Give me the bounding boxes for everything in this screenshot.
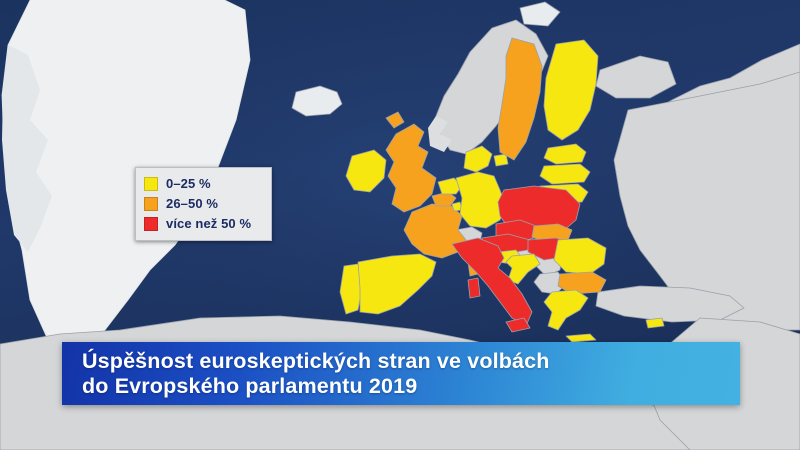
swatch-red-icon <box>144 217 158 231</box>
title-banner-text: Úspěšnost euroskeptických stran ve volbá… <box>82 349 730 399</box>
country-cyprus <box>646 318 664 328</box>
legend-label-26-50: 26–50 % <box>166 197 218 210</box>
title-line-2: do Evropského parlamentu 2019 <box>82 374 730 399</box>
country-sardinia <box>468 278 480 298</box>
legend-item-26-50: 26–50 % <box>144 194 263 213</box>
title-line-1: Úspěšnost euroskeptických stran ve volbá… <box>82 349 730 374</box>
infographic-root: 0–25 % 26–50 % více než 50 % Úspěšnost e… <box>0 0 800 450</box>
legend-label-more-than-50: více než 50 % <box>166 217 251 230</box>
title-banner: Úspěšnost euroskeptických stran ve volbá… <box>62 342 740 405</box>
legend-item-0-25: 0–25 % <box>144 174 263 193</box>
legend-label-0-25: 0–25 % <box>166 177 211 190</box>
map-legend: 0–25 % 26–50 % více než 50 % <box>135 167 272 241</box>
swatch-orange-icon <box>144 197 158 211</box>
legend-item-more-than-50: více než 50 % <box>144 214 263 233</box>
country-latvia <box>540 164 590 184</box>
swatch-yellow-icon <box>144 177 158 191</box>
